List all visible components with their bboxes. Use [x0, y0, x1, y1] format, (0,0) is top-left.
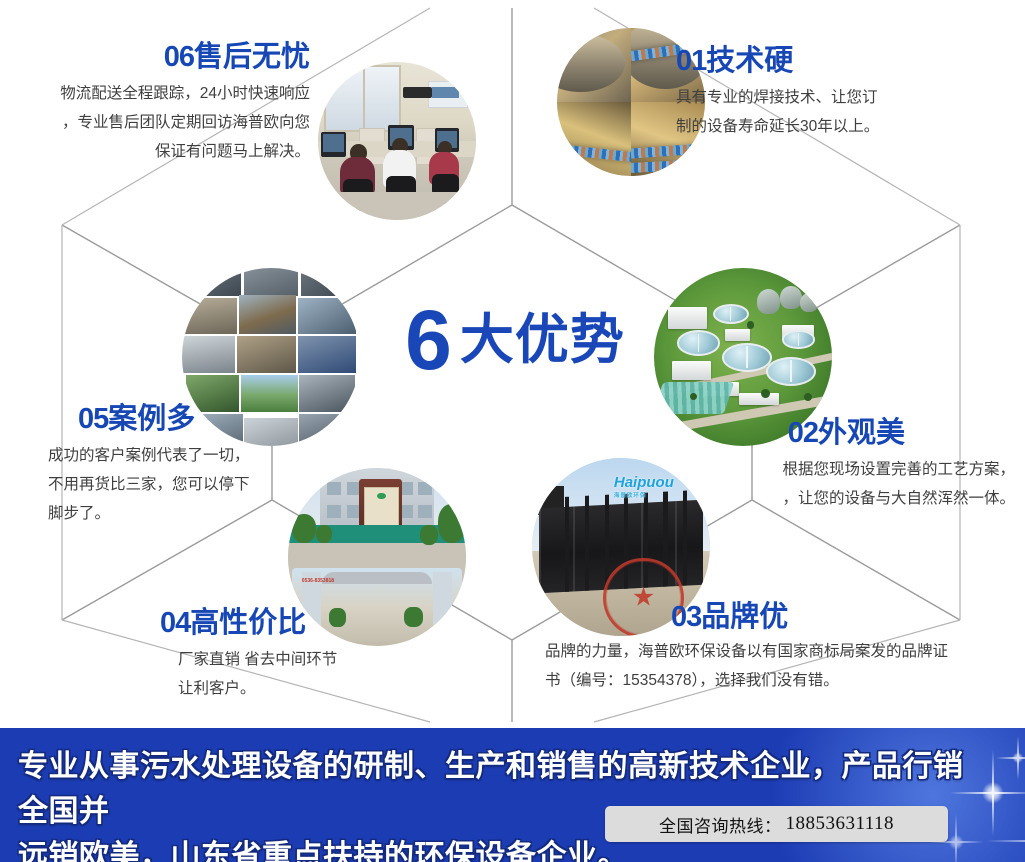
feature-04-desc-line-1: 厂家直销 省去中间环节: [178, 646, 480, 675]
feature-04-title: 04高性价比: [160, 608, 480, 638]
feature-03-watermark-sub: 海普欧环保: [614, 491, 674, 499]
feature-01-number: 01: [676, 45, 706, 77]
feature-04-number: 04: [160, 607, 190, 639]
feature-01-desc-line-1: 具有专业的焊接技术、让您订: [676, 84, 1006, 113]
feature-03-watermark: Haipuou 海普欧环保: [614, 474, 674, 499]
hotline-box[interactable]: 全国咨询热线： 18853631118: [605, 806, 948, 842]
feature-02-title: 02外观美: [700, 418, 1015, 448]
feature-06-image: [318, 62, 476, 220]
feature-02-title-text: 外观美: [818, 417, 905, 449]
feature-01-title: 01技术硬: [676, 46, 1006, 76]
hotline-label: 全国咨询热线：: [659, 812, 782, 837]
feature-06-desc-line-2: ，专业售后团队定期回访海普欧向您: [10, 109, 310, 138]
feature-06-number: 06: [164, 41, 194, 73]
feature-04-desc-line-2: 让利客户。: [178, 675, 480, 704]
hotline-number: 18853631118: [785, 813, 894, 835]
feature-05-desc-line-1: 成功的客户案例代表了一切，: [48, 442, 348, 471]
feature-02-number: 02: [788, 417, 818, 449]
feature-01-desc-line-2: 制的设备寿命延长30年以上。: [676, 113, 1006, 142]
center-label-text: 大优势: [460, 313, 625, 367]
feature-03-desc-line-2: 书（编号：15354378），选择我们没有错。: [545, 667, 1015, 696]
feature-03-watermark-text: Haipuou: [614, 474, 674, 491]
feature-02: 02外观美 根据您现场设置完善的工艺方案， ，让您的设备与大自然浑然一体。: [700, 418, 1015, 514]
infographic-stage: 6 大优势 06售后无忧: [0, 0, 1025, 862]
feature-02-desc-line-2: ，让您的设备与大自然浑然一体。: [700, 485, 1015, 514]
feature-01-title-text: 技术硬: [706, 45, 793, 77]
banner-slogan: 专业从事污水处理设备的研制、生产和销售的高新技术企业，产品行销全国并 远销欧美，…: [18, 744, 978, 862]
feature-02-desc-line-1: 根据您现场设置完善的工艺方案，: [700, 456, 1015, 485]
feature-04-title-text: 高性价比: [190, 607, 306, 639]
feature-05-title-text: 案例多: [108, 403, 195, 435]
feature-03: 03品牌优 品牌的力量，海普欧环保设备以有国家商标局案发的品牌证 书（编号：15…: [545, 602, 1015, 696]
feature-06-desc-line-1: 物流配送全程跟踪，24小时快速响应: [10, 80, 310, 109]
feature-06-desc-line-3: 保证有问题马上解决。: [10, 138, 310, 167]
feature-03-number: 03: [671, 601, 701, 633]
feature-03-title-text: 品牌优: [701, 601, 788, 633]
feature-01: 01技术硬 具有专业的焊接技术、让您订 制的设备寿命延长30年以上。: [676, 46, 1006, 142]
center-number: 6: [405, 298, 450, 382]
feature-06-title: 06售后无忧: [10, 42, 310, 72]
feature-04: 04高性价比 厂家直销 省去中间环节 让利客户。: [160, 608, 480, 704]
feature-06-title-text: 售后无忧: [194, 41, 310, 73]
feature-06: 06售后无忧 物流配送全程跟踪，24小时快速响应 ，专业售后团队定期回访海普欧向…: [10, 42, 310, 166]
feature-05-number: 05: [78, 403, 108, 435]
center-headline: 6 大优势: [355, 285, 675, 395]
feature-05-title: 05案例多: [48, 404, 348, 434]
feature-03-title: 03品牌优: [545, 602, 1015, 632]
feature-03-desc-line-1: 品牌的力量，海普欧环保设备以有国家商标局案发的品牌证: [545, 638, 1015, 667]
